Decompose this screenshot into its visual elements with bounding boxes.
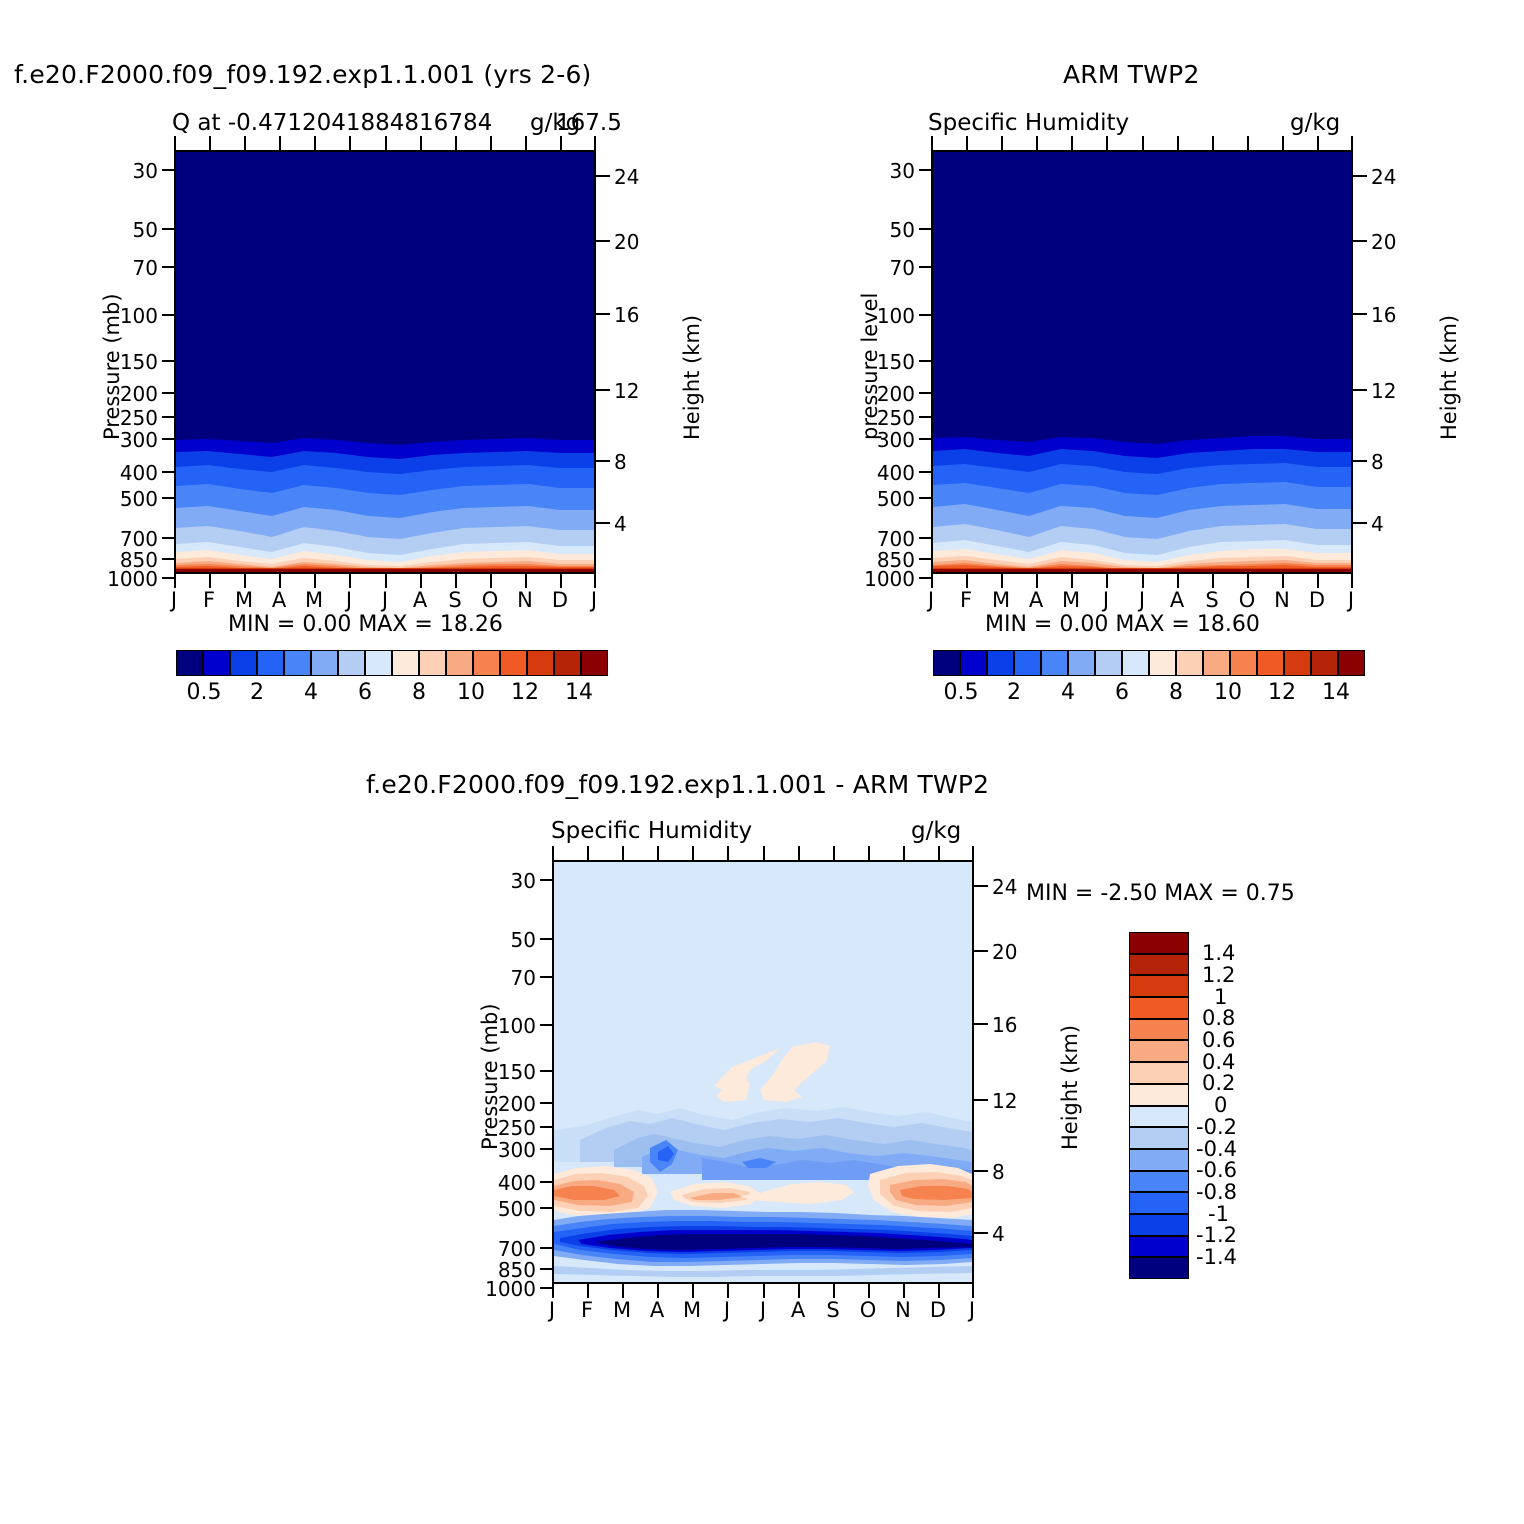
colorbar-swatch (1129, 1062, 1189, 1084)
bottom-panel-title: f.e20.F2000.f09_f09.192.exp1.1.001 - ARM… (366, 770, 989, 799)
pressure-tick-label: 50 (110, 218, 158, 242)
colorbar-swatch (1014, 650, 1041, 676)
month-label: M (986, 588, 1016, 612)
month-label: O (853, 1298, 883, 1322)
pressure-tick-label: 30 (110, 159, 158, 183)
pressure-tick-label: 70 (488, 966, 536, 990)
bottom-top-ticks (552, 846, 974, 860)
colorbar-swatch (1230, 650, 1257, 676)
colorbar-label: 2 (990, 680, 1038, 705)
colorbar-swatch (960, 650, 987, 676)
top-left-bottom-ticks (174, 574, 596, 588)
month-label: O (475, 588, 505, 612)
colorbar-swatch (1129, 1127, 1189, 1149)
bottom-pressure-axis: 30 50 70 100 150 200 250 300 400 500 700… (488, 860, 554, 1284)
colorbar-swatch (1129, 1257, 1189, 1279)
colorbar-label: -0.6 (1196, 1158, 1237, 1182)
colorbar-swatch (933, 650, 960, 676)
colorbar-label: 14 (551, 680, 607, 705)
top-left-contour-field (176, 152, 594, 572)
colorbar-swatch (1257, 650, 1284, 676)
height-tick-label: 16 (614, 303, 639, 327)
top-left-colorbar (176, 650, 608, 676)
top-right-subtitle-right: g/kg (1290, 110, 1340, 136)
month-label: A (642, 1298, 672, 1322)
month-label: N (510, 588, 540, 612)
bottom-month-axis: J F M A M J J A S O N D J (552, 1298, 974, 1324)
colorbar-swatch (1129, 1084, 1189, 1106)
height-tick-label: 4 (992, 1222, 1005, 1246)
pressure-tick-label: 50 (488, 928, 536, 952)
colorbar-label: 0.2 (1202, 1071, 1235, 1095)
bottom-height-axis: 24 20 16 12 8 4 (974, 860, 1044, 1284)
colorbar-swatch (1129, 975, 1189, 997)
pressure-tick-label: 500 (110, 487, 158, 511)
month-label: J (957, 1298, 987, 1322)
pressure-tick-label: 150 (867, 350, 915, 374)
top-right-ylabel-right: Height (km) (1437, 315, 1461, 440)
colorbar-swatch (419, 650, 446, 676)
height-tick-label: 24 (614, 165, 639, 189)
pressure-tick-label: 400 (867, 461, 915, 485)
height-tick-label: 4 (1371, 512, 1384, 536)
height-tick-label: 4 (614, 512, 627, 536)
colorbar-swatch (1129, 1106, 1189, 1128)
bottom-plot-area (552, 860, 974, 1284)
colorbar-swatch (1129, 1192, 1189, 1214)
month-label: M (1056, 588, 1086, 612)
pressure-tick-label: 1000 (853, 567, 915, 591)
bottom-subtitle-right: g/kg (911, 818, 961, 844)
colorbar-swatch (554, 650, 581, 676)
pressure-tick-label: 70 (110, 256, 158, 280)
month-label: J (370, 588, 400, 612)
colorbar-label: -0.8 (1196, 1180, 1237, 1204)
month-label: J (916, 588, 946, 612)
top-left-panel-title: f.e20.F2000.f09_f09.192.exp1.1.001 (yrs … (14, 60, 592, 89)
pressure-tick-label: 250 (110, 406, 158, 430)
top-right-panel-title: ARM TWP2 (1063, 60, 1200, 89)
pressure-tick-label: 500 (867, 487, 915, 511)
month-label: N (1267, 588, 1297, 612)
top-left-height-axis: 24 20 16 12 8 4 (596, 150, 666, 574)
pressure-tick-label: 400 (110, 461, 158, 485)
month-label: M (229, 588, 259, 612)
month-label: F (572, 1298, 602, 1322)
pressure-tick-label: 150 (110, 350, 158, 374)
top-left-subtitle-right: 167.5 (556, 110, 622, 136)
colorbar-label: 2 (233, 680, 281, 705)
colorbar-swatch (1129, 1214, 1189, 1236)
month-label: M (677, 1298, 707, 1322)
top-left-ylabel-right: Height (km) (680, 315, 704, 440)
top-left-colorbar-labels: 0.5 2 4 6 8 10 12 14 (176, 680, 608, 708)
pressure-tick-label: 200 (488, 1092, 536, 1116)
top-right-minmax: MIN = 0.00 MAX = 18.60 (985, 612, 1260, 637)
pressure-tick-label: 500 (488, 1197, 536, 1221)
pressure-tick-label: 70 (867, 256, 915, 280)
top-left-subtitle-left: Q at -0.4712041884816784 (172, 110, 492, 136)
pressure-tick-label: 300 (488, 1138, 536, 1162)
colorbar-swatch (311, 650, 338, 676)
top-right-top-ticks (931, 136, 1353, 150)
colorbar-swatch (1176, 650, 1203, 676)
top-left-pressure-axis: 30 50 70 100 150 200 250 300 400 500 700… (110, 150, 176, 574)
pressure-tick-label: 250 (867, 406, 915, 430)
month-label: S (440, 588, 470, 612)
height-tick-label: 24 (1371, 165, 1396, 189)
bottom-minmax: MIN = -2.50 MAX = 0.75 (1026, 881, 1295, 906)
bottom-bottom-ticks (552, 1284, 974, 1298)
top-right-bottom-ticks (931, 574, 1353, 588)
colorbar-swatch (1311, 650, 1338, 676)
month-label: F (951, 588, 981, 612)
colorbar-swatch (1068, 650, 1095, 676)
pressure-tick-label: 250 (488, 1116, 536, 1140)
pressure-tick-label: 300 (110, 428, 158, 452)
pressure-tick-label: 300 (867, 428, 915, 452)
pressure-tick-label: 30 (867, 159, 915, 183)
height-tick-label: 20 (614, 230, 639, 254)
colorbar-swatch (1149, 650, 1176, 676)
month-label: O (1232, 588, 1262, 612)
colorbar-swatch (1129, 932, 1189, 954)
colorbar-label: 1.2 (1202, 963, 1235, 987)
month-label: M (607, 1298, 637, 1322)
top-left-month-axis: J F M A M J J A S O N D J (174, 588, 596, 614)
pressure-tick-label: 30 (488, 869, 536, 893)
colorbar-label: -1.2 (1196, 1223, 1237, 1247)
top-right-plot-area (931, 150, 1353, 574)
month-label: J (159, 588, 189, 612)
colorbar-label: 8 (1152, 680, 1200, 705)
top-right-colorbar (933, 650, 1365, 676)
colorbar-swatch (473, 650, 500, 676)
top-left-minmax: MIN = 0.00 MAX = 18.26 (228, 612, 503, 637)
colorbar-swatch (203, 650, 230, 676)
height-tick-label: 12 (614, 379, 639, 403)
top-left-plot-area (174, 150, 596, 574)
month-label: A (1162, 588, 1192, 612)
month-label: N (888, 1298, 918, 1322)
bottom-colorbar-labels: 1.4 1.2 1 0.8 0.6 0.4 0.2 0 -0.2 -0.4 -0… (1196, 932, 1286, 1279)
pressure-tick-label: 200 (867, 382, 915, 406)
month-label: A (1021, 588, 1051, 612)
colorbar-label: 4 (287, 680, 335, 705)
colorbar-swatch (1203, 650, 1230, 676)
top-right-contour-field (933, 152, 1351, 572)
colorbar-label: -0.2 (1196, 1115, 1237, 1139)
month-label: S (818, 1298, 848, 1322)
colorbar-label: 1.4 (1202, 941, 1235, 965)
colorbar-label: 4 (1044, 680, 1092, 705)
month-label: J (334, 588, 364, 612)
colorbar-swatch (230, 650, 257, 676)
height-tick-label: 8 (1371, 450, 1384, 474)
month-label: M (299, 588, 329, 612)
month-label: D (923, 1298, 953, 1322)
colorbar-swatch (1129, 1236, 1189, 1258)
pressure-tick-label: 1000 (474, 1277, 536, 1301)
month-label: D (1302, 588, 1332, 612)
month-label: F (194, 588, 224, 612)
colorbar-label: 0.6 (1202, 1028, 1235, 1052)
month-label: J (1127, 588, 1157, 612)
pressure-tick-label: 100 (867, 304, 915, 328)
top-right-month-axis: J F M A M J J A S O N D J (931, 588, 1353, 614)
bottom-difference-field (554, 862, 972, 1282)
month-label: J (1336, 588, 1366, 612)
top-right-pressure-axis: 30 50 70 100 150 200 250 300 400 500 700… (867, 150, 933, 574)
colorbar-label: 6 (1098, 680, 1146, 705)
colorbar-swatch (257, 650, 284, 676)
bottom-colorbar (1129, 932, 1189, 1279)
colorbar-swatch (987, 650, 1014, 676)
month-label: J (537, 1298, 567, 1322)
colorbar-swatch (581, 650, 608, 676)
colorbar-swatch (1095, 650, 1122, 676)
pressure-tick-label: 200 (110, 382, 158, 406)
month-label: J (748, 1298, 778, 1322)
height-tick-label: 8 (992, 1160, 1005, 1184)
height-tick-label: 12 (1371, 379, 1396, 403)
top-right-height-axis: 24 20 16 12 8 4 (1353, 150, 1423, 574)
height-tick-label: 20 (1371, 230, 1396, 254)
month-label: A (783, 1298, 813, 1322)
colorbar-swatch (392, 650, 419, 676)
colorbar-swatch (1129, 1040, 1189, 1062)
height-tick-label: 24 (992, 875, 1017, 899)
month-label: A (405, 588, 435, 612)
colorbar-swatch (338, 650, 365, 676)
month-label: J (1091, 588, 1121, 612)
pressure-tick-label: 100 (488, 1014, 536, 1038)
month-label: A (264, 588, 294, 612)
month-label: J (712, 1298, 742, 1322)
colorbar-swatch (284, 650, 311, 676)
colorbar-label: 10 (443, 680, 499, 705)
top-left-top-ticks (174, 136, 596, 150)
top-right-subtitle-left: Specific Humidity (928, 110, 1129, 136)
colorbar-label: 14 (1308, 680, 1364, 705)
pressure-tick-label: 1000 (96, 567, 158, 591)
colorbar-label: 12 (1254, 680, 1310, 705)
bottom-subtitle-left: Specific Humidity (551, 818, 752, 844)
colorbar-swatch (1284, 650, 1311, 676)
colorbar-swatch (1129, 1149, 1189, 1171)
height-tick-label: 16 (1371, 303, 1396, 327)
month-label: S (1197, 588, 1227, 612)
colorbar-swatch (1041, 650, 1068, 676)
colorbar-label: -1.4 (1196, 1245, 1237, 1269)
colorbar-label: 12 (497, 680, 553, 705)
pressure-tick-label: 50 (867, 218, 915, 242)
colorbar-swatch (1338, 650, 1365, 676)
colorbar-label: 8 (395, 680, 443, 705)
height-tick-label: 20 (992, 940, 1017, 964)
colorbar-label: 10 (1200, 680, 1256, 705)
colorbar-swatch (500, 650, 527, 676)
height-tick-label: 8 (614, 450, 627, 474)
colorbar-swatch (176, 650, 203, 676)
month-label: J (579, 588, 609, 612)
colorbar-swatch (1129, 1171, 1189, 1193)
colorbar-swatch (527, 650, 554, 676)
colorbar-label: 0.5 (937, 680, 985, 705)
colorbar-swatch (446, 650, 473, 676)
pressure-tick-label: 400 (488, 1171, 536, 1195)
height-tick-label: 12 (992, 1089, 1017, 1113)
colorbar-swatch (1129, 954, 1189, 976)
colorbar-label: 0 (1214, 1093, 1227, 1117)
top-right-colorbar-labels: 0.5 2 4 6 8 10 12 14 (933, 680, 1365, 708)
colorbar-swatch (1129, 997, 1189, 1019)
colorbar-label: 0.8 (1202, 1006, 1235, 1030)
bottom-ylabel-right: Height (km) (1058, 1025, 1082, 1150)
colorbar-swatch (1122, 650, 1149, 676)
colorbar-swatch (1129, 1019, 1189, 1041)
colorbar-label: 6 (341, 680, 389, 705)
height-tick-label: 16 (992, 1013, 1017, 1037)
colorbar-label: 0.5 (180, 680, 228, 705)
pressure-tick-label: 100 (110, 304, 158, 328)
pressure-tick-label: 150 (488, 1060, 536, 1084)
colorbar-swatch (365, 650, 392, 676)
month-label: D (545, 588, 575, 612)
